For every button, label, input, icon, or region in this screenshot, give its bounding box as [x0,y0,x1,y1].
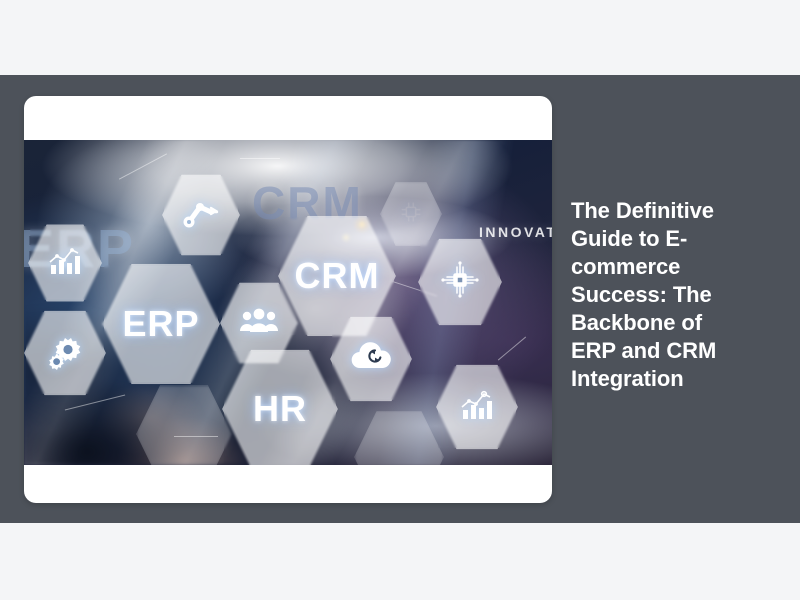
gears-icon [45,332,85,375]
hex-label-hr: HR [253,388,307,430]
users-group-icon [239,307,279,340]
robotic-arm-icon [182,196,220,235]
hero-media-card: ERP CRM INNOVATION [24,96,552,503]
article-title: The Definitive Guide to E-commerce Succe… [571,197,751,393]
page-root: ERP CRM INNOVATION [0,0,800,600]
hex-label-erp: ERP [122,303,199,345]
cpu-chip-icon [437,258,483,307]
hero-image: ERP CRM INNOVATION [24,140,552,465]
hex-label-crm: CRM [295,255,380,297]
bar-chart-icon [47,245,83,282]
cloud-sync-icon [349,341,393,378]
cpu-chip-icon [397,198,425,231]
trend-chart-icon [458,388,496,427]
